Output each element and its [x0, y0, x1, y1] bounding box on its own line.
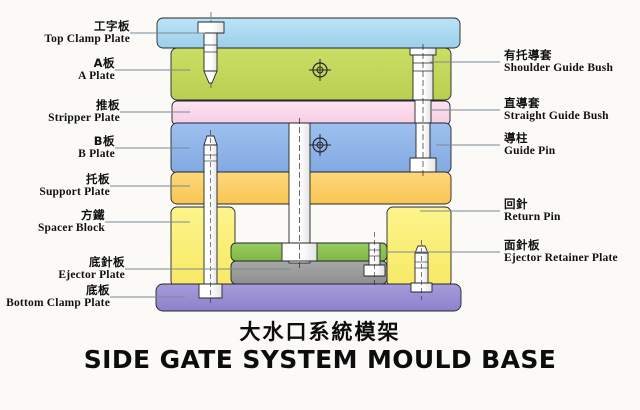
- label-spacer-block-en: Spacer Block: [0, 222, 105, 235]
- label-b-plate-cn: B板: [0, 135, 115, 148]
- label-shoulder-guide-bush: 有托導套 Shoulder Guide Bush: [504, 49, 613, 75]
- label-a-plate: A板 A Plate: [0, 57, 115, 83]
- label-b-plate-en: B Plate: [0, 148, 115, 161]
- label-support-plate-en: Support Plate: [0, 186, 110, 199]
- label-b-plate: B板 B Plate: [0, 135, 115, 161]
- label-straight-guide-bush-en: Straight Guide Bush: [504, 110, 609, 123]
- label-bottom-clamp-plate-cn: 底板: [0, 284, 110, 297]
- label-support-plate-cn: 托板: [0, 173, 110, 186]
- label-spacer-block: 方鐵 Spacer Block: [0, 209, 105, 235]
- label-support-plate: 托板 Support Plate: [0, 173, 110, 199]
- spacer-block-left: [171, 207, 235, 287]
- label-ejector-plate-cn: 底針板: [0, 256, 125, 269]
- label-ejector-retainer-plate-en: Ejector Retainer Plate: [504, 252, 618, 265]
- label-spacer-block-cn: 方鐵: [0, 209, 105, 222]
- label-guide-pin-en: Guide Pin: [504, 145, 555, 158]
- label-top-clamp-plate-cn: 工字板: [0, 20, 130, 33]
- label-guide-pin-cn: 導柱: [504, 132, 555, 145]
- label-return-pin: 回針 Return Pin: [504, 198, 561, 224]
- label-straight-guide-bush-cn: 直導套: [504, 97, 609, 110]
- label-a-plate-cn: A板: [0, 57, 115, 70]
- label-top-clamp-plate: 工字板 Top Clamp Plate: [0, 20, 130, 46]
- label-stripper-plate: 推板 Stripper Plate: [0, 99, 120, 125]
- plate-stripper: [172, 101, 450, 125]
- label-guide-pin: 導柱 Guide Pin: [504, 132, 555, 158]
- label-stripper-plate-cn: 推板: [0, 99, 120, 112]
- label-ejector-plate-en: Ejector Plate: [0, 269, 125, 282]
- label-shoulder-guide-bush-cn: 有托導套: [504, 49, 613, 62]
- label-straight-guide-bush: 直導套 Straight Guide Bush: [504, 97, 609, 123]
- label-a-plate-en: A Plate: [0, 70, 115, 83]
- label-ejector-retainer-plate: 面針板 Ejector Retainer Plate: [504, 239, 618, 265]
- label-return-pin-en: Return Pin: [504, 211, 561, 224]
- title-english: SIDE GATE SYSTEM MOULD BASE: [0, 345, 640, 374]
- label-bottom-clamp-plate: 底板 Bottom Clamp Plate: [0, 284, 110, 310]
- label-top-clamp-plate-en: Top Clamp Plate: [0, 33, 130, 46]
- label-stripper-plate-en: Stripper Plate: [0, 112, 120, 125]
- title-chinese: 大水口系統模架: [0, 316, 640, 346]
- label-ejector-retainer-plate-cn: 面針板: [504, 239, 618, 252]
- label-return-pin-cn: 回針: [504, 198, 561, 211]
- label-bottom-clamp-plate-en: Bottom Clamp Plate: [0, 297, 110, 310]
- label-ejector-plate: 底針板 Ejector Plate: [0, 256, 125, 282]
- label-shoulder-guide-bush-en: Shoulder Guide Bush: [504, 62, 613, 75]
